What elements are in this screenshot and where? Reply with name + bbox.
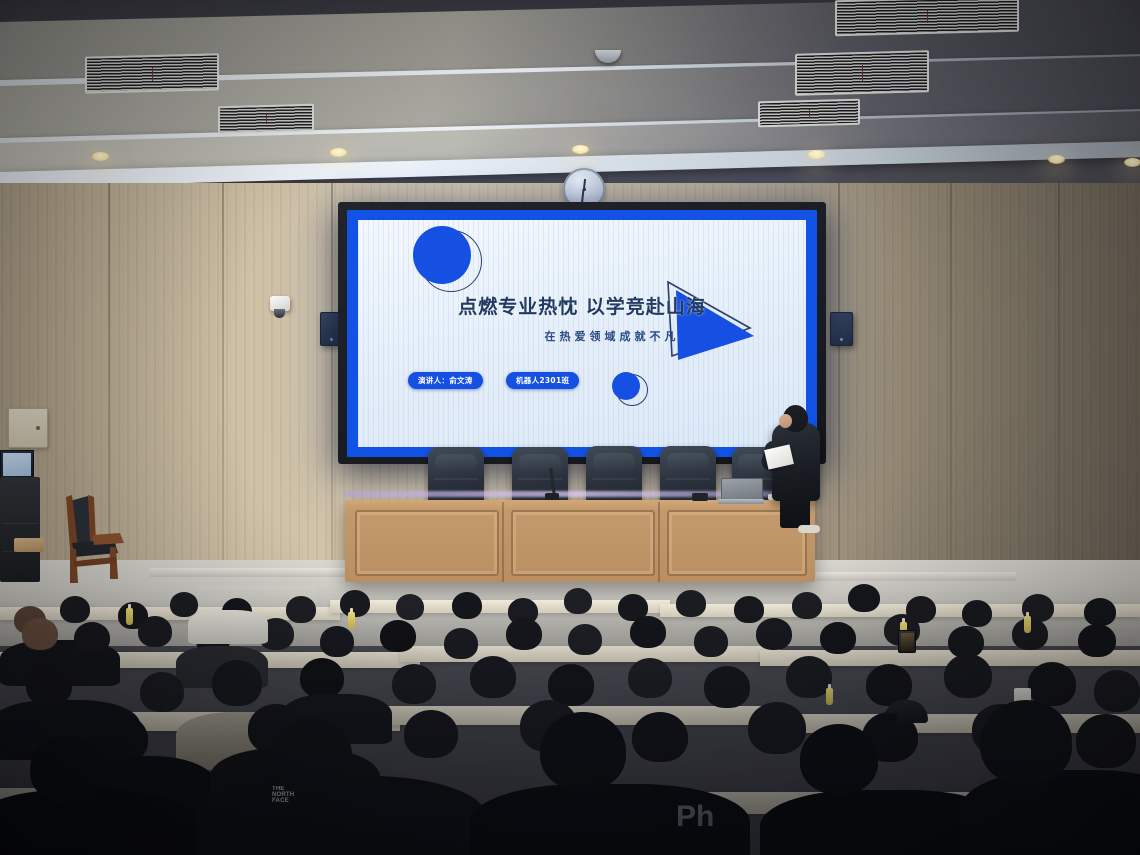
audience-head (286, 596, 316, 623)
slide-title: 点燃专业热忱 以学竞赴山海 (358, 292, 806, 319)
laptop-base (718, 499, 764, 504)
audience-head (564, 588, 592, 614)
audience-head (392, 664, 436, 704)
audience-head (630, 616, 666, 648)
audience-shoulders-front (960, 770, 1140, 855)
ceiling-downlight (572, 145, 589, 154)
audience-head (300, 658, 344, 698)
slide-circle-top-left (413, 226, 471, 284)
audience-head (170, 592, 198, 617)
ceiling-downlight (330, 148, 347, 157)
audience-shoulders-white (188, 610, 268, 644)
water-bottle (348, 612, 355, 629)
audience-head (704, 666, 750, 708)
audience-head (404, 710, 458, 758)
audience-head (452, 592, 482, 619)
audience-head (22, 618, 58, 650)
clock-minute-hand (582, 189, 585, 203)
clock-center-pin (583, 188, 586, 191)
audience-head (396, 594, 424, 620)
audience-head (800, 724, 878, 794)
audience-head (30, 736, 104, 802)
lecture-hall-photo: 点燃专业热忱 以学竞赴山海 在热爱领域成就不凡 演讲人：俞文涛 机器人2301班 (0, 0, 1140, 855)
audience-head (980, 700, 1072, 784)
audience-head (848, 584, 880, 612)
smartphone (898, 630, 916, 653)
audience-head (962, 600, 992, 627)
air-vent (218, 104, 314, 135)
microphone-base (545, 493, 559, 500)
audience-head (734, 596, 764, 623)
air-vent (85, 53, 219, 93)
equipment-cabinet (0, 477, 40, 582)
baseball-cap (884, 700, 928, 723)
podium-panel (355, 510, 499, 576)
audience-head (632, 712, 688, 762)
slide-subtitle: 在热爱领域成就不凡 (358, 328, 806, 344)
wooden-armchair (48, 487, 138, 585)
audience-head (628, 658, 672, 698)
jacket-logo-mark: Ph (676, 800, 714, 834)
wall-speaker-right (830, 312, 853, 346)
slide-speaker-pill: 演讲人：俞文涛 (408, 372, 483, 389)
screen-blue-border: 点燃专业热忱 以学竞赴山海 在热爱领域成就不凡 演讲人：俞文涛 机器人2301班 (347, 210, 817, 457)
ceiling-downlight (1048, 155, 1065, 164)
ceiling-downlight (1124, 158, 1140, 167)
audience-head (470, 656, 516, 698)
audience-head (444, 628, 478, 659)
presentation-slide: 点燃专业热忱 以学竞赴山海 在热爱领域成就不凡 演讲人：俞文涛 机器人2301班 (358, 220, 806, 447)
air-vent (795, 50, 929, 96)
presenter-shoe (798, 525, 820, 533)
audience-head (506, 618, 542, 650)
ceiling-downlight (92, 152, 109, 161)
audience-head (140, 672, 184, 712)
audience-head (60, 596, 90, 623)
wall-access-panel (8, 408, 48, 448)
security-camera (270, 296, 290, 311)
audience-head (568, 624, 602, 655)
audience-shoulders-front (0, 790, 200, 855)
audience-head (694, 626, 728, 657)
audience-head (212, 660, 262, 706)
presenter-legs (780, 496, 810, 528)
audience-head (1094, 670, 1140, 712)
north-face-logo-text: THE NORTH FACE (272, 786, 294, 804)
desk-item (692, 493, 708, 501)
audience-head (320, 626, 354, 657)
ceiling-downlight (808, 150, 825, 159)
projection-screen: 点燃专业热忱 以学竞赴山海 在热爱领域成就不凡 演讲人：俞文涛 机器人2301班 (338, 202, 826, 464)
audience-head (380, 620, 416, 652)
audience-head (1028, 662, 1076, 706)
audience-head (1084, 598, 1116, 626)
audience-head (540, 712, 626, 790)
audience-head (820, 622, 856, 654)
audience-head (340, 590, 370, 617)
laptop (718, 478, 764, 504)
audience-head (272, 718, 352, 790)
control-monitor (0, 450, 34, 479)
monitor-screen (3, 453, 31, 476)
slide-class-pill: 机器人2301班 (506, 372, 579, 389)
water-bottle (826, 688, 833, 705)
audience-head (944, 654, 992, 698)
water-bottle (126, 608, 133, 625)
slide-circle-bottom-right (612, 372, 640, 400)
audience-head (74, 622, 110, 654)
audience-head (792, 592, 822, 619)
presenter-face (779, 414, 792, 428)
cabinet-seam (2, 523, 38, 524)
slide-triangle-group (658, 276, 754, 362)
audience-shoulders-front (196, 776, 486, 855)
audience-head (1078, 624, 1116, 657)
audience-head (1076, 714, 1136, 768)
podium (345, 500, 815, 582)
audience-head (756, 618, 792, 650)
water-bottle (1024, 616, 1031, 633)
audience-head (138, 616, 172, 647)
audience-head (676, 590, 706, 617)
audience-head (748, 702, 806, 754)
podium-divider (658, 502, 660, 582)
air-vent (835, 0, 1019, 36)
stage-step-left (150, 568, 355, 577)
audience-head (26, 664, 72, 706)
podium-panel (511, 510, 655, 576)
cardboard-box (14, 538, 44, 552)
podium-divider (502, 502, 504, 582)
air-vent (758, 99, 860, 128)
stage-step-right (816, 572, 1016, 581)
